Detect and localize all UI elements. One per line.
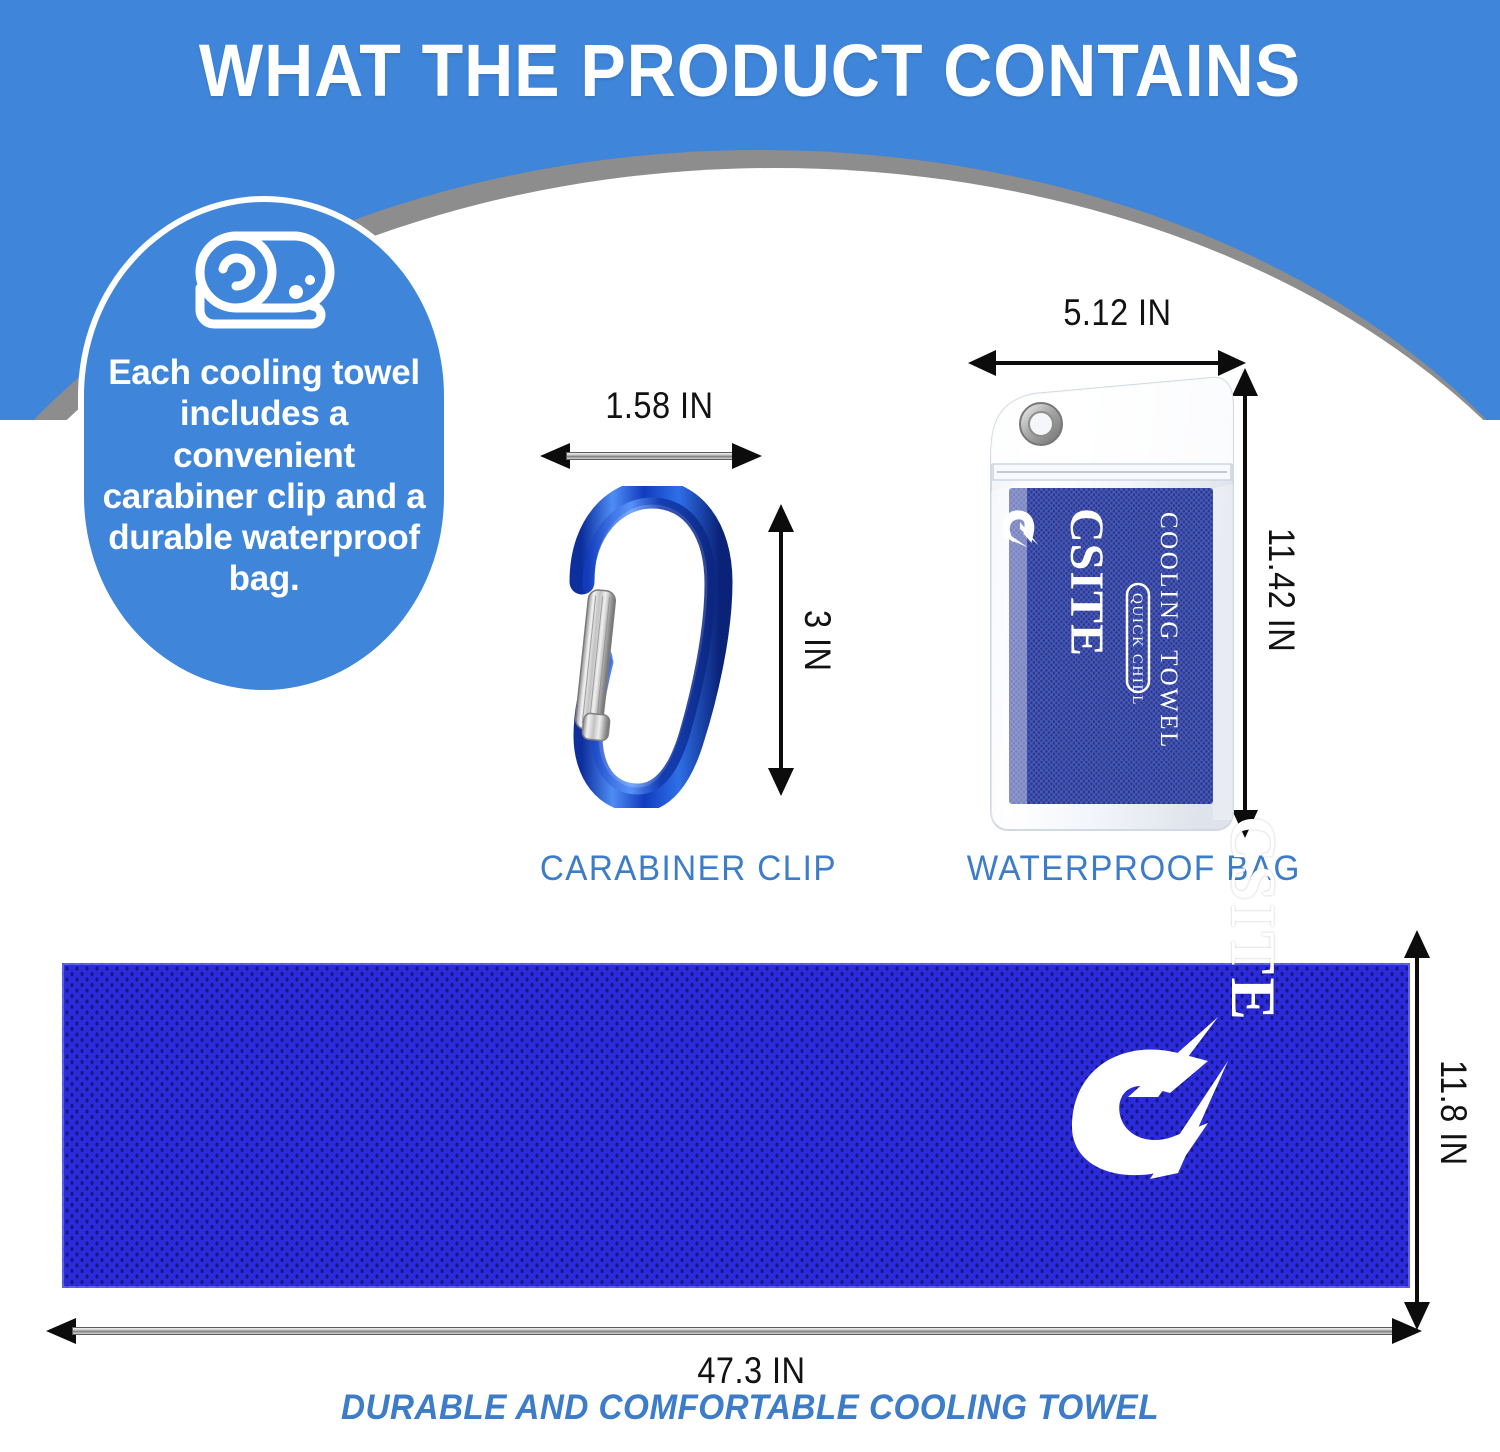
page-title: WHAT THE PRODUCT CONTAINS [60, 28, 1440, 113]
carabiner-caption: CARABINER CLIP [540, 849, 837, 889]
badge-text: Each cooling towel includes a convenient… [99, 352, 429, 600]
svg-text:COOLING TOWEL: COOLING TOWEL [1155, 512, 1182, 750]
towel-width-label: 47.3 IN [697, 1350, 805, 1392]
towel-brand-text: CSITE [1216, 816, 1290, 1023]
bag-height-label: 11.42 IN [1260, 528, 1302, 652]
csite-logo-icon [1032, 1001, 1332, 1251]
carabiner-height-label: 3 IN [796, 610, 838, 671]
towel-width-arrow [46, 1318, 1422, 1344]
svg-text:QUICK CHILL: QUICK CHILL [1129, 593, 1145, 706]
rolled-towel-icon [184, 228, 344, 340]
carabiner-clip-image [552, 486, 742, 808]
towel-height-label: 11.8 IN [1432, 1060, 1474, 1166]
svg-text:CSITE: CSITE [1060, 508, 1113, 657]
bag-width-label: 5.12 IN [1063, 292, 1171, 334]
carabiner-height-arrow [768, 504, 794, 796]
waterproof-bag-image: CSITE COOLING TOWEL QUICK CHILL [975, 372, 1243, 834]
feature-badge: Each cooling towel includes a convenient… [78, 196, 450, 696]
carabiner-width-label: 1.58 IN [605, 385, 713, 427]
carabiner-width-arrow [540, 443, 762, 469]
towel-footer-caption: DURABLE AND COMFORTABLE COOLING TOWEL [38, 1388, 1463, 1428]
cooling-towel-image: CSITE [62, 963, 1410, 1288]
product-infographic: WHAT THE PRODUCT CONTAINS Each cooling t… [0, 0, 1500, 1452]
